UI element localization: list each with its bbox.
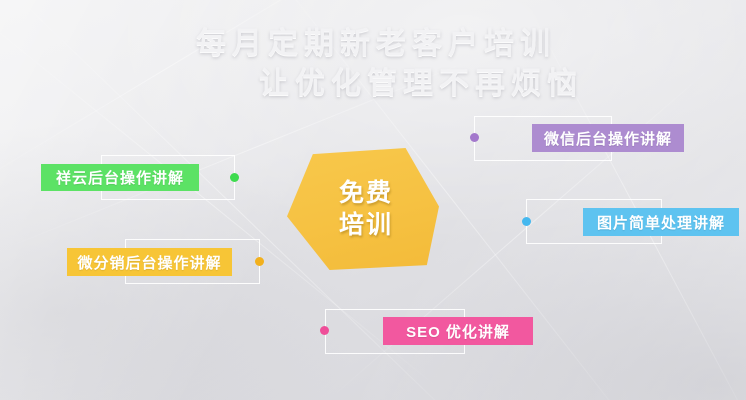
feature-node-weixin[interactable]: 微信后台操作讲解 bbox=[474, 116, 614, 161]
node-dot-icon bbox=[230, 173, 239, 182]
feature-node-xiangyun[interactable]: 祥云后台操作讲解 bbox=[101, 155, 241, 200]
hexagon-label-line-2: 培训 bbox=[333, 209, 393, 241]
hexagon-label-line-1: 免费 bbox=[333, 177, 393, 209]
node-dot-icon bbox=[470, 133, 479, 142]
node-dot-icon bbox=[522, 217, 531, 226]
node-chip-tupian[interactable]: 图片简单处理讲解 bbox=[583, 208, 739, 236]
free-training-badge: 免费 培训 bbox=[287, 148, 439, 270]
node-dot-icon bbox=[255, 257, 264, 266]
node-dot-icon bbox=[320, 326, 329, 335]
headline-line-1: 每月定期新老客户培训 bbox=[0, 24, 746, 64]
headline-line-2: 让优化管理不再烦恼 bbox=[0, 64, 746, 104]
node-chip-seo[interactable]: SEO 优化讲解 bbox=[383, 317, 533, 345]
node-chip-xiangyun[interactable]: 祥云后台操作讲解 bbox=[41, 164, 199, 191]
banner-headline: 每月定期新老客户培训 让优化管理不再烦恼 bbox=[0, 24, 746, 104]
feature-node-tupian[interactable]: 图片简单处理讲解 bbox=[526, 199, 666, 244]
feature-node-seo[interactable]: SEO 优化讲解 bbox=[325, 309, 465, 354]
node-chip-weifenxiao[interactable]: 微分销后台操作讲解 bbox=[67, 248, 232, 276]
feature-node-weifenxiao[interactable]: 微分销后台操作讲解 bbox=[125, 239, 265, 284]
training-promo-banner: 每月定期新老客户培训 让优化管理不再烦恼 免费 培训 祥云后台操作讲解 微分销后… bbox=[0, 0, 746, 400]
hexagon-shape: 免费 培训 bbox=[287, 148, 439, 270]
node-chip-weixin[interactable]: 微信后台操作讲解 bbox=[532, 124, 684, 152]
